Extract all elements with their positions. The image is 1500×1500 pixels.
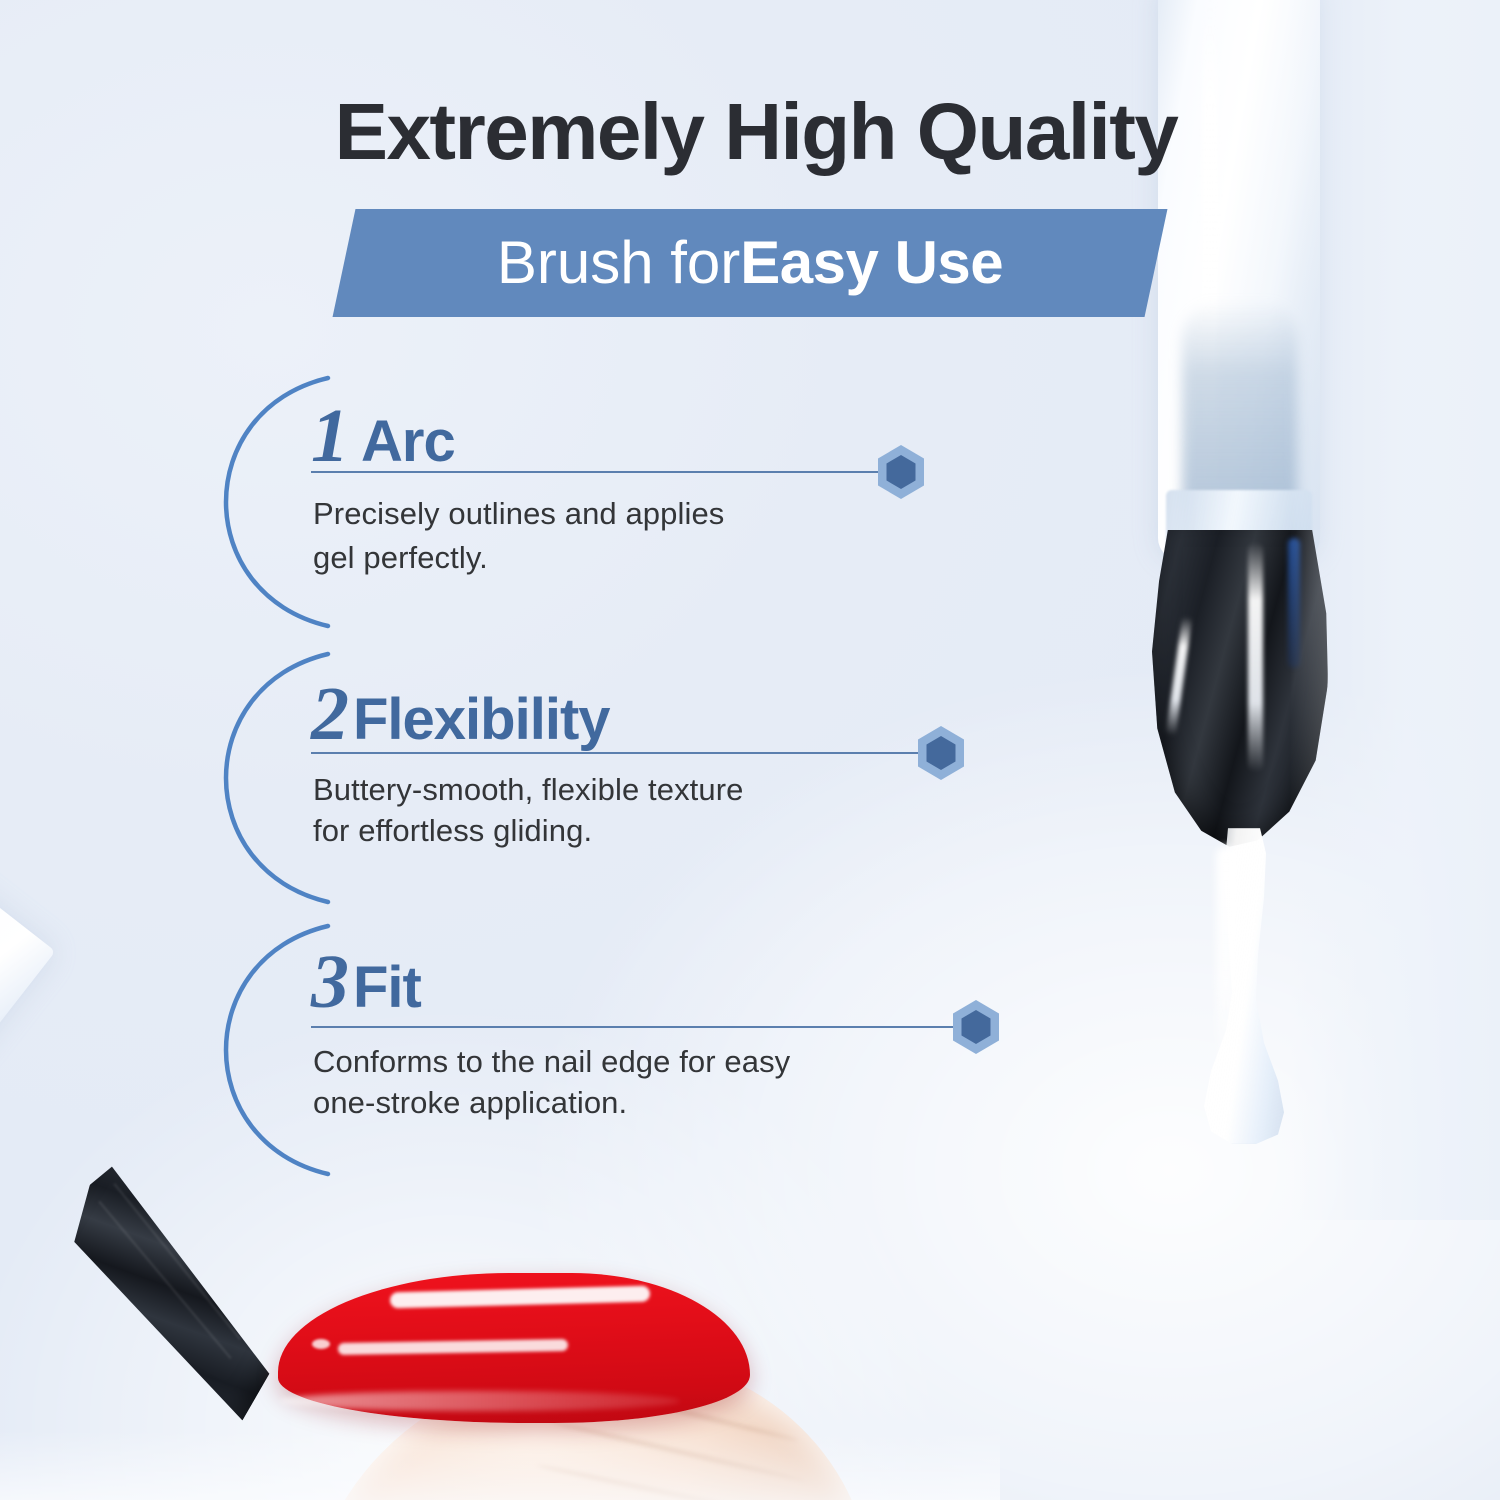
nail-edge-light bbox=[280, 1391, 680, 1411]
bristle-strand-1 bbox=[128, 1167, 247, 1318]
feature-divider-1 bbox=[311, 471, 900, 473]
feature-divider-3 bbox=[311, 1026, 976, 1028]
feature-number-2: 2 bbox=[311, 676, 347, 752]
feature-heading-fit: 3 Fit bbox=[311, 944, 421, 1020]
feature-heading-flexibility: 2 Flexibility bbox=[311, 676, 610, 752]
feature-description-flexibility: Buttery-smooth, flexible texture for eff… bbox=[313, 770, 973, 852]
feature-description-fit: Conforms to the nail edge for easy one-s… bbox=[313, 1042, 993, 1124]
brush-bristle-shine-main bbox=[1248, 542, 1263, 772]
page-title: Extremely High Quality bbox=[196, 92, 1316, 172]
brush-blue-reflection bbox=[1288, 538, 1300, 668]
gel-drop-highlight bbox=[1216, 846, 1236, 1086]
feature-description-arc: Precisely outlines and applies gel perfe… bbox=[313, 492, 933, 580]
feature-divider-2 bbox=[311, 752, 941, 754]
applicator-handle bbox=[0, 879, 55, 1188]
brush-dipper-photo bbox=[1130, 0, 1460, 1180]
feature-number-1: 1 bbox=[311, 398, 347, 474]
nail-gloss-dot bbox=[312, 1339, 330, 1349]
feature-heading-arc: 1 Arc bbox=[311, 398, 455, 474]
bristle-strand-3 bbox=[98, 1201, 231, 1359]
subtitle-prefix: Brush for bbox=[497, 233, 740, 293]
bristle-strand-2 bbox=[114, 1183, 241, 1340]
subtitle-emphasis: Easy Use bbox=[740, 233, 1003, 293]
gel-drop bbox=[1194, 828, 1294, 1144]
feature-name-fit: Fit bbox=[353, 959, 421, 1017]
feature-number-3: 3 bbox=[311, 944, 347, 1020]
feature-name-arc: Arc bbox=[361, 413, 455, 471]
subtitle-banner: Brush for Easy Use bbox=[344, 209, 1156, 317]
feature-name-flexibility: Flexibility bbox=[353, 691, 610, 749]
infographic-canvas: Extremely High Quality Brush for Easy Us… bbox=[0, 0, 1500, 1500]
